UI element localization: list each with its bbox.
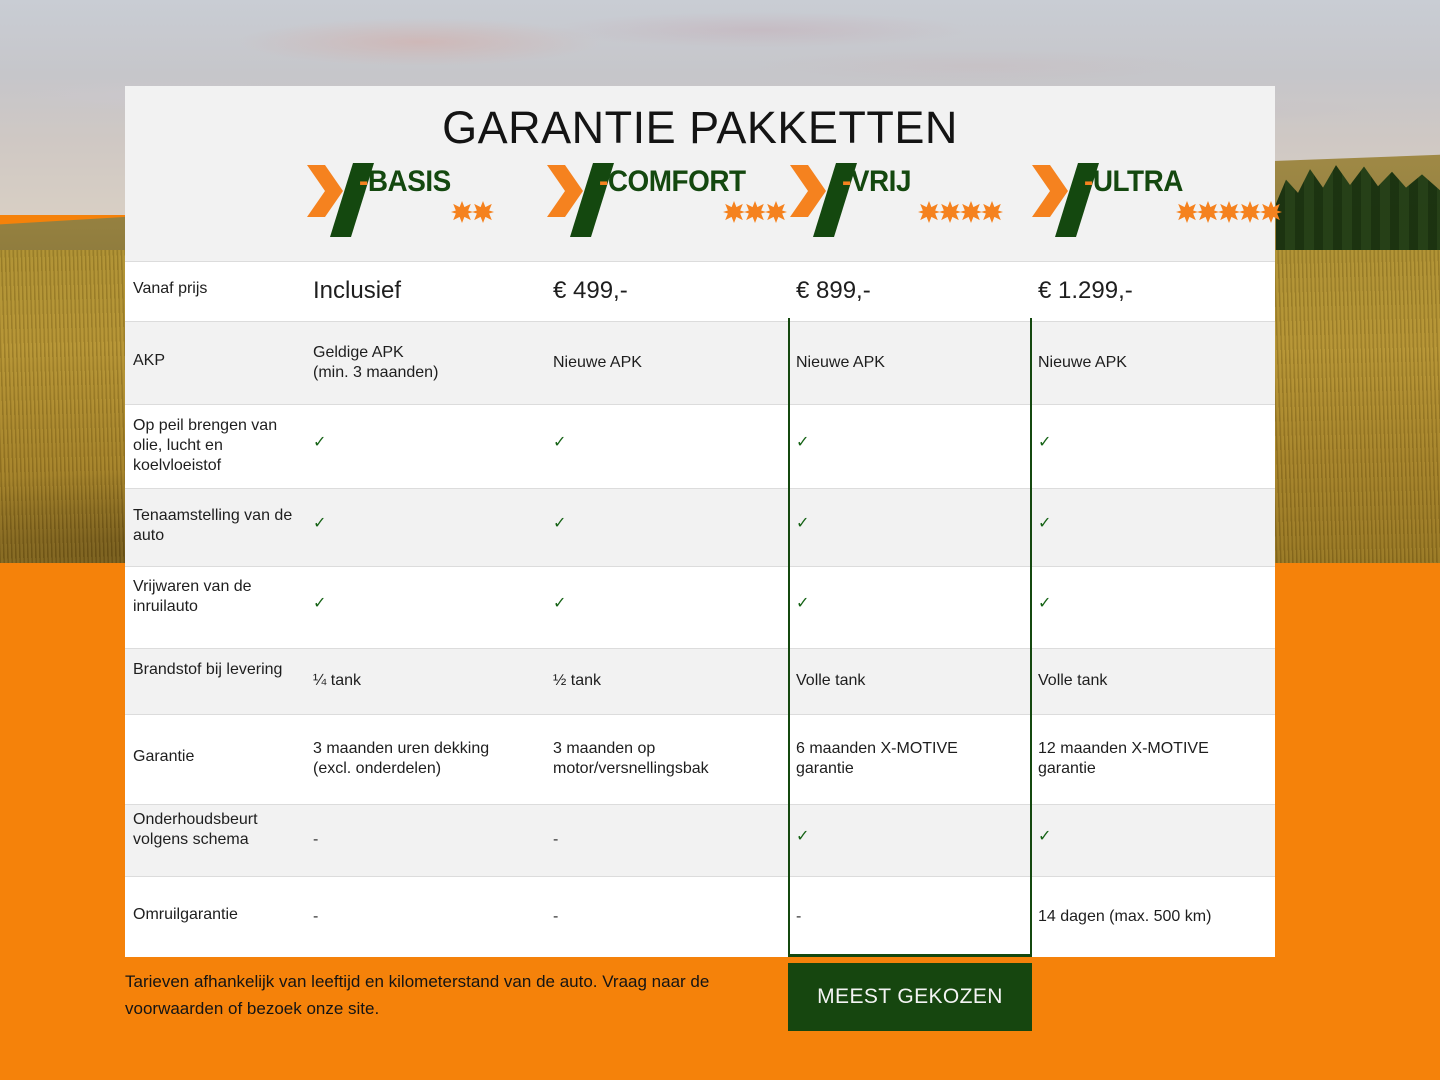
cell-vrij: € 899,- — [796, 281, 1022, 301]
star-icon — [960, 201, 982, 223]
logo-label-vrij: -VRIJ — [842, 165, 911, 199]
cell-comfort: € 499,- — [553, 281, 780, 301]
logo-name: COMFORT — [608, 165, 746, 198]
logo-comfort: -COMFORT — [547, 161, 784, 243]
cell-ultra: ✓ — [1038, 589, 1267, 619]
cell-basis: ✓ — [313, 589, 537, 619]
logo-dash: - — [842, 165, 851, 198]
row-separator — [125, 804, 1275, 805]
chevron-right-icon — [547, 165, 583, 217]
cell-ultra: ✓ — [1038, 822, 1267, 852]
row-label: AKP — [133, 351, 297, 371]
row-separator — [125, 648, 1275, 649]
star-icon — [1218, 201, 1240, 223]
comparison-card: GARANTIE PAKKETTEN -BASIS-COMFORT-VRIJ-U… — [125, 86, 1275, 957]
package-header-vrij[interactable]: -VRIJ — [790, 161, 1026, 246]
chevron-right-icon — [1032, 165, 1068, 217]
star-icon — [472, 201, 494, 223]
cell-vrij: ✓ — [796, 509, 1022, 539]
row-separator — [125, 321, 1275, 322]
row-separator — [125, 566, 1275, 567]
cell-vrij: ✓ — [796, 589, 1022, 619]
cell-basis: ✓ — [313, 428, 537, 458]
row-label: Op peil brengen van olie, lucht en koelv… — [133, 416, 297, 476]
row-separator — [125, 714, 1275, 715]
logo-label-basis: -BASIS — [359, 165, 451, 199]
cell-comfort: ✓ — [553, 428, 780, 458]
row-label: Garantie — [133, 747, 297, 767]
footnote-text: Tarieven afhankelijk van leeftijd en kil… — [125, 968, 765, 1022]
cell-basis: ¼ tank — [313, 671, 537, 691]
logo-ultra: -ULTRA — [1032, 161, 1271, 243]
cell-basis: Geldige APK(min. 3 maanden) — [313, 343, 537, 383]
star-icon — [1176, 201, 1198, 223]
cell-ultra: 14 dagen (max. 500 km) — [1038, 907, 1267, 927]
logo-dash: - — [599, 165, 608, 198]
cell-basis: - — [313, 830, 537, 850]
star-rating-ultra — [1176, 201, 1281, 223]
cell-ultra: ✓ — [1038, 428, 1267, 458]
logo-name: ULTRA — [1093, 165, 1183, 198]
cell-comfort: - — [553, 907, 780, 927]
logo-dash: - — [359, 165, 368, 198]
cell-ultra: € 1.299,- — [1038, 281, 1267, 301]
packages-table: -BASIS-COMFORT-VRIJ-ULTRAVanaf prijsIncl… — [125, 86, 1275, 957]
cell-ultra: Nieuwe APK — [1038, 353, 1267, 373]
star-icon — [765, 201, 787, 223]
cell-comfort: ½ tank — [553, 671, 780, 691]
row-label: Vrijwaren van de inruilauto — [133, 577, 297, 617]
cell-comfort: ✓ — [553, 589, 780, 619]
package-header-ultra[interactable]: -ULTRA — [1032, 161, 1271, 246]
logo-label-ultra: -ULTRA — [1084, 165, 1183, 199]
star-rating-vrij — [918, 201, 1002, 223]
star-rating-comfort — [723, 201, 786, 223]
star-icon — [1197, 201, 1219, 223]
logo-name: VRIJ — [851, 165, 911, 198]
cell-basis: 3 maanden uren dekking(excl. onderdelen) — [313, 739, 537, 779]
cell-vrij: 6 maanden X-MOTIVEgarantie — [796, 739, 1022, 779]
cell-comfort: 3 maanden opmotor/versnellingsbak — [553, 739, 780, 779]
star-icon — [939, 201, 961, 223]
highlight-border-right — [1030, 318, 1032, 957]
package-header-basis[interactable]: -BASIS — [307, 161, 541, 246]
cell-vrij: ✓ — [796, 428, 1022, 458]
cell-vrij: ✓ — [796, 822, 1022, 852]
most-chosen-badge: MEEST GEKOZEN — [788, 963, 1032, 1031]
package-header-comfort[interactable]: -COMFORT — [547, 161, 784, 246]
cell-comfort: Nieuwe APK — [553, 353, 780, 373]
row-label: Vanaf prijs — [133, 279, 297, 299]
cell-vrij: Volle tank — [796, 671, 1022, 691]
row-label: Tenaamstelling van de auto — [133, 506, 297, 546]
cell-basis: ✓ — [313, 509, 537, 539]
cell-vrij: Nieuwe APK — [796, 353, 1022, 373]
star-icon — [1239, 201, 1261, 223]
logo-vrij: -VRIJ — [790, 161, 1026, 243]
cell-vrij: - — [796, 907, 1022, 927]
star-icon — [723, 201, 745, 223]
cell-basis: Inclusief — [313, 281, 537, 301]
cell-ultra: 12 maanden X-MOTIVEgarantie — [1038, 739, 1267, 779]
chevron-right-icon — [790, 165, 826, 217]
row-label: Onderhoudsbeurt volgens schema — [133, 810, 297, 850]
star-icon — [918, 201, 940, 223]
cell-comfort: - — [553, 830, 780, 850]
row-separator — [125, 876, 1275, 877]
cell-ultra: ✓ — [1038, 509, 1267, 539]
star-icon — [1260, 201, 1282, 223]
row-label: Omruilgarantie — [133, 905, 297, 925]
cell-comfort: ✓ — [553, 509, 780, 539]
chevron-right-icon — [307, 165, 343, 217]
star-icon — [744, 201, 766, 223]
row-separator — [125, 261, 1275, 262]
logo-name: BASIS — [368, 165, 451, 198]
logo-dash: - — [1084, 165, 1093, 198]
logo-basis: -BASIS — [307, 161, 541, 243]
row-separator — [125, 404, 1275, 405]
highlight-border-left — [788, 318, 790, 957]
star-rating-basis — [451, 201, 493, 223]
cell-basis: - — [313, 907, 537, 927]
star-icon — [451, 201, 473, 223]
row-separator — [125, 488, 1275, 489]
star-icon — [981, 201, 1003, 223]
row-label: Brandstof bij levering — [133, 660, 297, 680]
logo-label-comfort: -COMFORT — [599, 165, 746, 199]
cell-ultra: Volle tank — [1038, 671, 1267, 691]
highlight-border-bottom — [788, 954, 1032, 957]
